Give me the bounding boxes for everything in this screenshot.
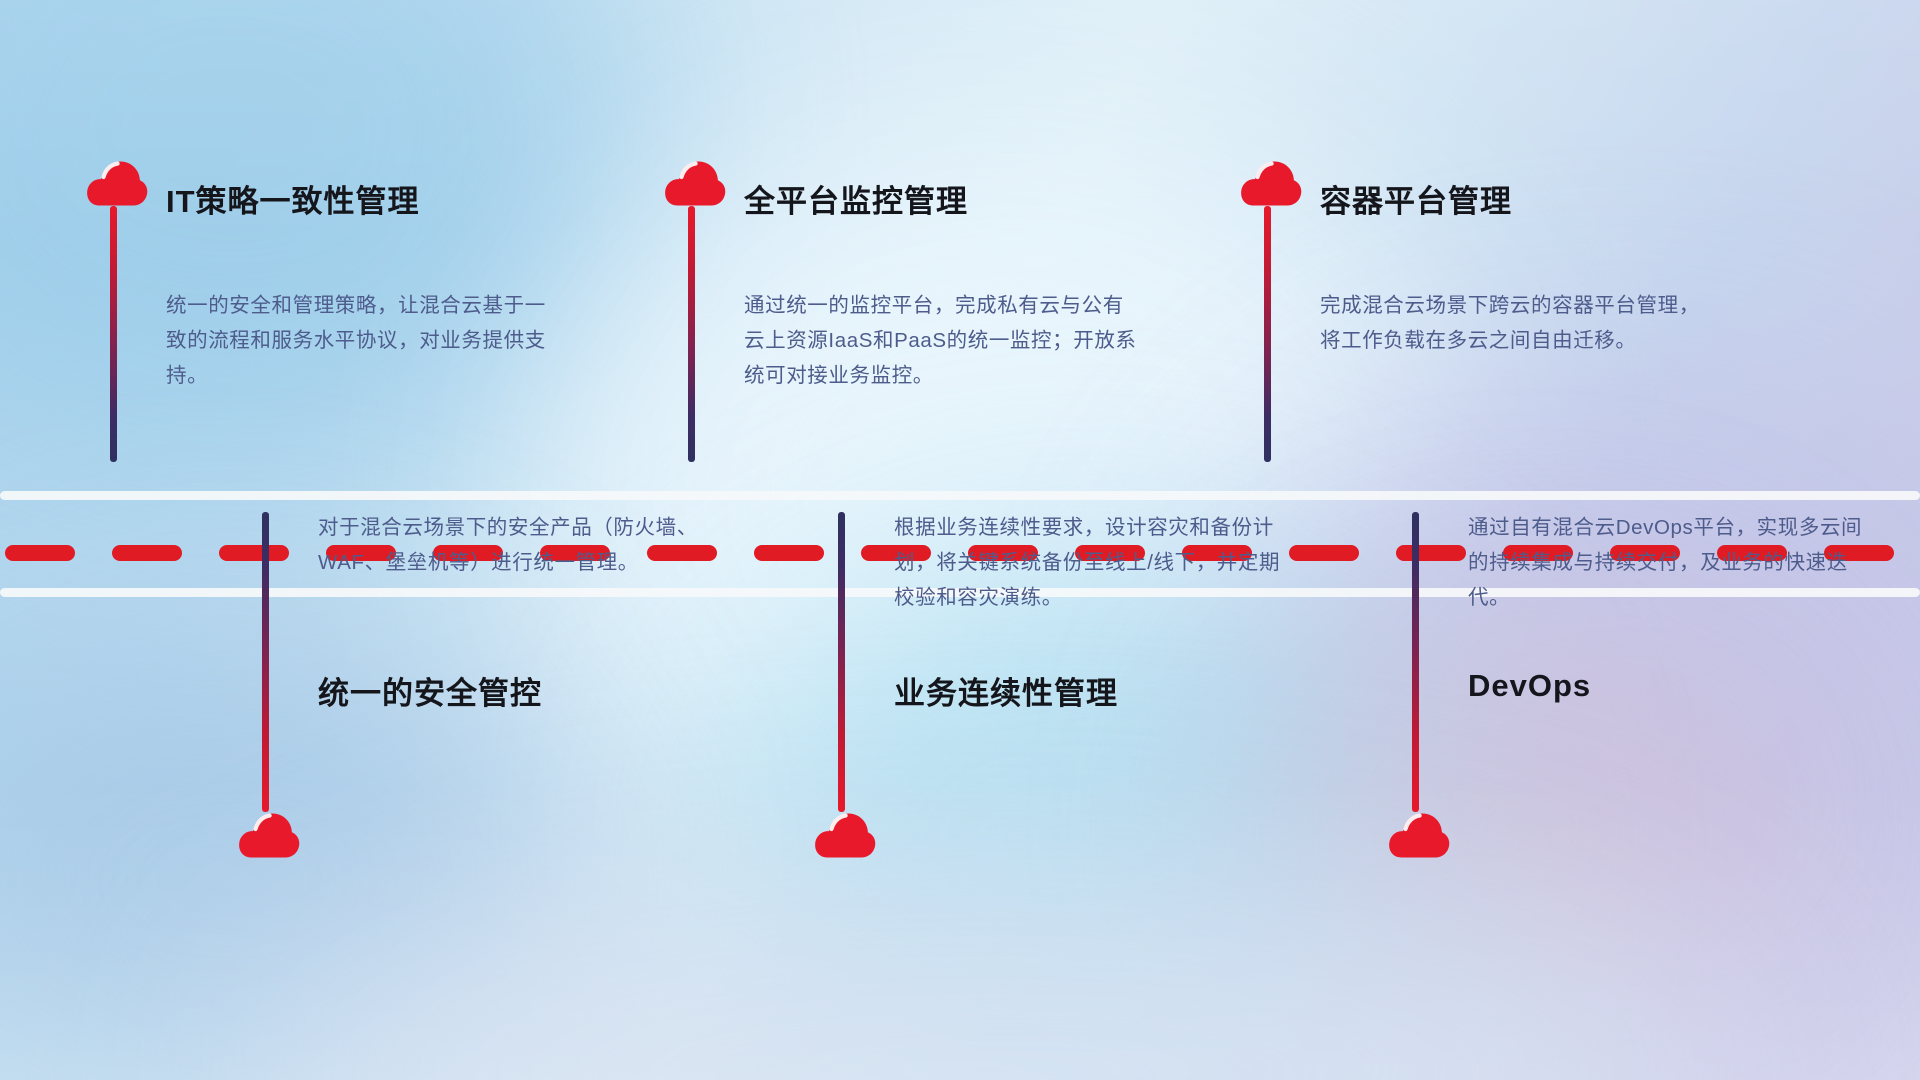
- connector-line: [838, 512, 845, 812]
- connector-group: [682, 160, 712, 462]
- feature-description: 完成混合云场景下跨云的容器平台管理，将工作负载在多云之间自由迁移。: [1320, 288, 1720, 358]
- background-blob-top-left: [0, 0, 640, 480]
- cloud-icon: [1240, 160, 1302, 206]
- cloud-icon: [1388, 812, 1450, 858]
- connector-line: [110, 206, 117, 462]
- connector-group: [104, 160, 134, 462]
- cloud-icon: [86, 160, 148, 206]
- connector-line: [1412, 512, 1419, 812]
- cloud-icon: [238, 812, 300, 858]
- connector-group: [256, 512, 286, 858]
- feature-heading: IT策略一致性管理: [166, 176, 420, 221]
- connector-line: [1264, 206, 1271, 462]
- feature-heading: 容器平台管理: [1320, 176, 1512, 221]
- background-blob-bottom-wash: [240, 860, 1740, 1080]
- feature-heading: 统一的安全管控: [318, 668, 542, 713]
- dash-segment: [1289, 545, 1359, 561]
- feature-description: 根据业务连续性要求，设计容灾和备份计划，将关键系统备份至线上/线下，并定期校验和…: [894, 510, 1294, 615]
- feature-heading: 业务连续性管理: [894, 668, 1118, 713]
- connector-line: [688, 206, 695, 462]
- feature-description: 通过自有混合云DevOps平台，实现多云间的持续集成与持续交付，及业务的快速迭代…: [1468, 510, 1868, 615]
- background-blob-right-lavender: [1180, 380, 1920, 1080]
- cloud-icon: [814, 812, 876, 858]
- connector-group: [1258, 160, 1288, 462]
- dash-segment: [754, 545, 824, 561]
- feature-description: 通过统一的监控平台，完成私有云与公有云上资源IaaS和PaaS的统一监控；开放系…: [744, 288, 1144, 393]
- dash-segment: [5, 545, 75, 561]
- connector-line: [262, 512, 269, 812]
- feature-heading: DevOps: [1468, 668, 1591, 704]
- connector-group: [1406, 512, 1436, 858]
- divider-rule-upper: [0, 491, 1920, 500]
- feature-description: 统一的安全和管理策略，让混合云基于一致的流程和服务水平协议，对业务提供支持。: [166, 288, 566, 393]
- infographic-canvas: IT策略一致性管理 统一的安全和管理策略，让混合云基于一致的流程和服务水平协议，…: [0, 0, 1920, 1080]
- cloud-icon: [664, 160, 726, 206]
- dash-segment: [112, 545, 182, 561]
- feature-description: 对于混合云场景下的安全产品（防火墙、WAF、堡垒机等）进行统一管理。: [318, 510, 718, 580]
- connector-group: [832, 512, 862, 858]
- feature-heading: 全平台监控管理: [744, 176, 968, 221]
